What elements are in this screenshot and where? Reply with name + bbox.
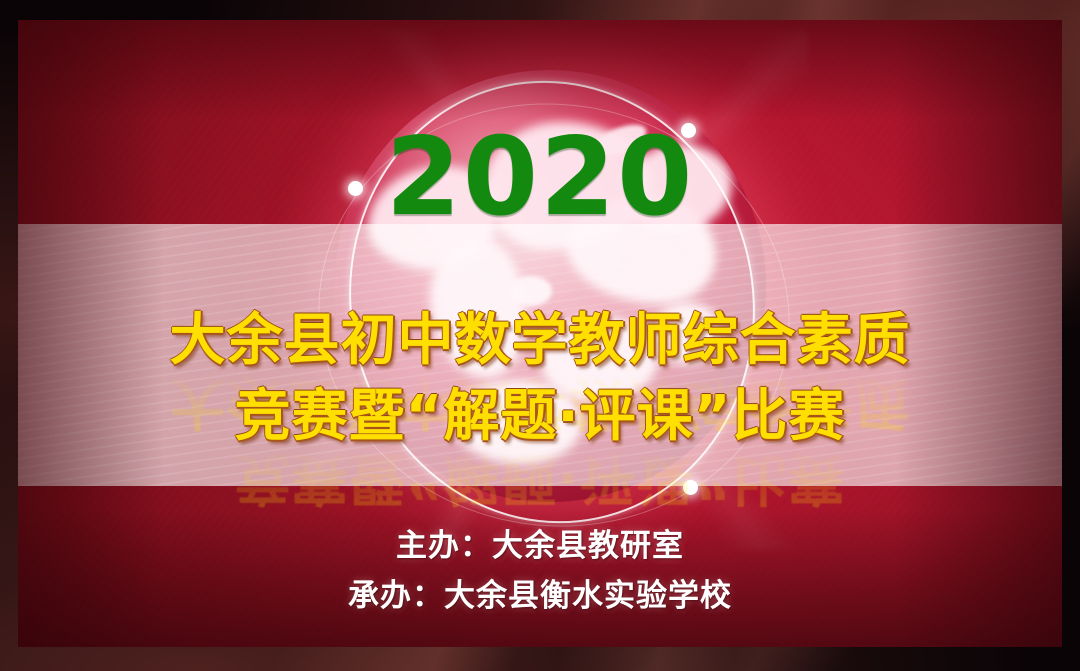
title-line-2: 竞赛暨“解题·评课”比赛 (18, 379, 1062, 455)
year-heading: 2020 (18, 124, 1062, 232)
title-line-1: 大余县初中数学教师综合素质 (18, 303, 1062, 379)
main-title: 大余县初中数学教师综合素质 竞赛暨“解题·评课”比赛 (18, 303, 1062, 455)
organizer-line: 主办：大余县教研室 (18, 526, 1062, 566)
presentation-slide: 2020 大余县初中数学教师综合素质 竞赛暨“解题·评课”比赛 大余县初中数学教… (0, 0, 1080, 671)
slide-content-panel: 2020 大余县初中数学教师综合素质 竞赛暨“解题·评课”比赛 大余县初中数学教… (18, 20, 1062, 647)
host-line: 承办：大余县衡水实验学校 (18, 576, 1062, 616)
